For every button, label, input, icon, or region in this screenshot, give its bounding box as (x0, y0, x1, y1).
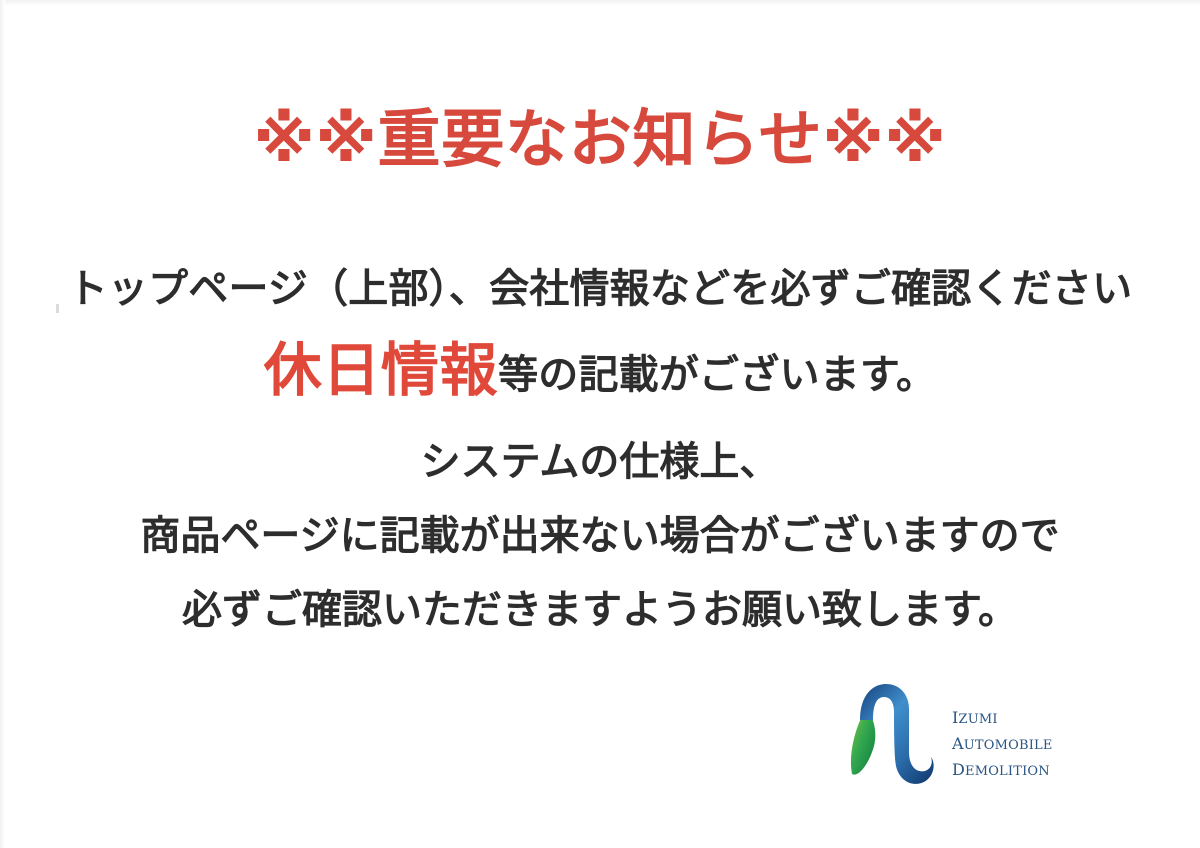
notice-flyer: ※※重要なお知らせ※※ トップページ（上部）、会社情報などを必ずご確認ください … (0, 0, 1200, 848)
logo-line-automobile: Automobile (952, 730, 1053, 756)
scan-edge-top (0, 0, 1200, 6)
notice-line-4: 商品ページに記載が出来ない場合がございますので (0, 505, 1200, 567)
logo-line-demolition: Demolition (952, 756, 1053, 782)
notice-body: トップページ（上部）、会社情報などを必ずご確認ください 休日情報等の記載がござい… (0, 258, 1200, 641)
holiday-info-emphasis: 休日情報 (264, 336, 498, 404)
notice-line-3: システムの仕様上、 (0, 431, 1200, 493)
logo-line-izumi: Izumi (952, 704, 1053, 730)
company-logo: Izumi Automobile Demolition (836, 676, 1126, 792)
notice-line-1: トップページ（上部）、会社情報などを必ずご確認ください (0, 258, 1200, 320)
logo-wordmark: Izumi Automobile Demolition (952, 686, 1053, 782)
notice-line-5: 必ずご確認いただきますようお願い致します。 (0, 579, 1200, 641)
notice-headline: ※※重要なお知らせ※※ (0, 107, 1200, 173)
notice-line-2: 休日情報等の記載がございます。 (0, 328, 1200, 425)
izumi-swirl-leaf-mark (836, 678, 940, 790)
notice-line-2-rest: 等の記載がございます。 (498, 352, 936, 398)
